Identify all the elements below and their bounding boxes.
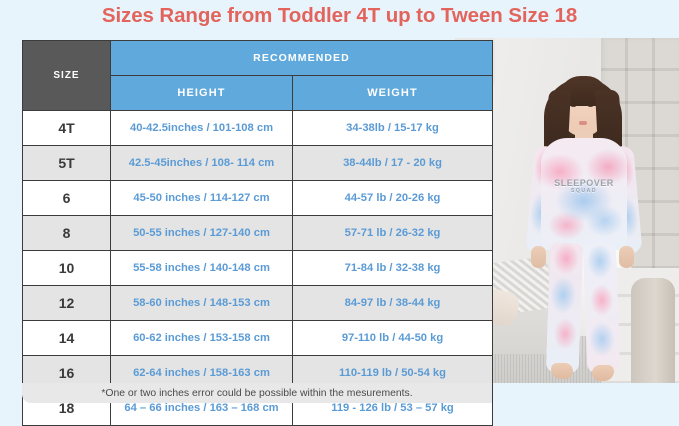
- size-table-wrapper: SIZE RECOMMENDED HEIGHT WEIGHT 4T 40-42.…: [22, 40, 492, 426]
- table-footnote: *One or two inches error could be possib…: [22, 383, 492, 403]
- model-hand-left: [531, 246, 546, 268]
- header-row-top: SIZE RECOMMENDED: [23, 41, 493, 76]
- page-title: Sizes Range from Toddler 4T up to Tween …: [0, 4, 679, 28]
- cell-weight: 84-97 lb / 38-44 kg: [293, 286, 493, 321]
- cell-size: 6: [23, 181, 111, 216]
- table-header: SIZE RECOMMENDED HEIGHT WEIGHT: [23, 41, 493, 111]
- cell-size: 12: [23, 286, 111, 321]
- cell-weight: 71-84 lb / 32-38 kg: [293, 251, 493, 286]
- garment-print-line1: SLEEPOVER: [554, 178, 614, 188]
- cell-weight: 34-38lb / 15-17 kg: [293, 111, 493, 146]
- table-row: 4T 40-42.5inches / 101-108 cm 34-38lb / …: [23, 111, 493, 146]
- table-row: 10 55-58 inches / 140-148 cm 71-84 lb / …: [23, 251, 493, 286]
- cell-height: 45-50 inches / 114-127 cm: [111, 181, 293, 216]
- cell-weight: 57-71 lb / 26-32 kg: [293, 216, 493, 251]
- cell-height: 60-62 inches / 153-158 cm: [111, 321, 293, 356]
- table-row: 14 60-62 inches / 153-158 cm 97-110 lb /…: [23, 321, 493, 356]
- cell-size: 4T: [23, 111, 111, 146]
- garment-print-line2: SQUAD: [549, 188, 619, 194]
- header-weight: WEIGHT: [293, 76, 493, 111]
- cell-height: 55-58 inches / 140-148 cm: [111, 251, 293, 286]
- size-chart-page: Sizes Range from Toddler 4T up to Tween …: [0, 0, 679, 420]
- cell-height: 40-42.5inches / 101-108 cm: [111, 111, 293, 146]
- cell-size: 10: [23, 251, 111, 286]
- product-photo: SLEEPOVER SQUAD: [486, 38, 679, 383]
- cell-size: 8: [23, 216, 111, 251]
- size-table: SIZE RECOMMENDED HEIGHT WEIGHT 4T 40-42.…: [22, 40, 493, 426]
- photo-scene: SLEEPOVER SQUAD: [486, 38, 679, 383]
- header-recommended: RECOMMENDED: [111, 41, 493, 76]
- pajama-pant-left: [546, 242, 584, 373]
- table-body: 4T 40-42.5inches / 101-108 cm 34-38lb / …: [23, 111, 493, 426]
- header-height: HEIGHT: [111, 76, 293, 111]
- cell-height: 42.5-45inches / 108- 114 cm: [111, 146, 293, 181]
- cell-height: 50-55 inches / 127-140 cm: [111, 216, 293, 251]
- model-hand-right: [619, 246, 634, 268]
- table-row: 8 50-55 inches / 127-140 cm 57-71 lb / 2…: [23, 216, 493, 251]
- cell-weight: 97-110 lb / 44-50 kg: [293, 321, 493, 356]
- model-foot-left: [551, 363, 573, 379]
- header-size: SIZE: [23, 41, 111, 111]
- cell-size: 5T: [23, 146, 111, 181]
- cell-weight: 44-57 lb / 20-26 kg: [293, 181, 493, 216]
- table-row: 6 45-50 inches / 114-127 cm 44-57 lb / 2…: [23, 181, 493, 216]
- pajama-top: [541, 138, 627, 250]
- cell-size: 14: [23, 321, 111, 356]
- model-mouth: [579, 121, 587, 125]
- cell-weight: 38-44lb / 17 - 20 kg: [293, 146, 493, 181]
- table-row: 12 58-60 inches / 148-153 cm 84-97 lb / …: [23, 286, 493, 321]
- pajama-pant-right: [583, 242, 621, 373]
- garment-print: SLEEPOVER SQUAD: [549, 178, 619, 194]
- vase: [631, 278, 675, 383]
- table-row: 5T 42.5-45inches / 108- 114 cm 38-44lb /…: [23, 146, 493, 181]
- cell-height: 58-60 inches / 148-153 cm: [111, 286, 293, 321]
